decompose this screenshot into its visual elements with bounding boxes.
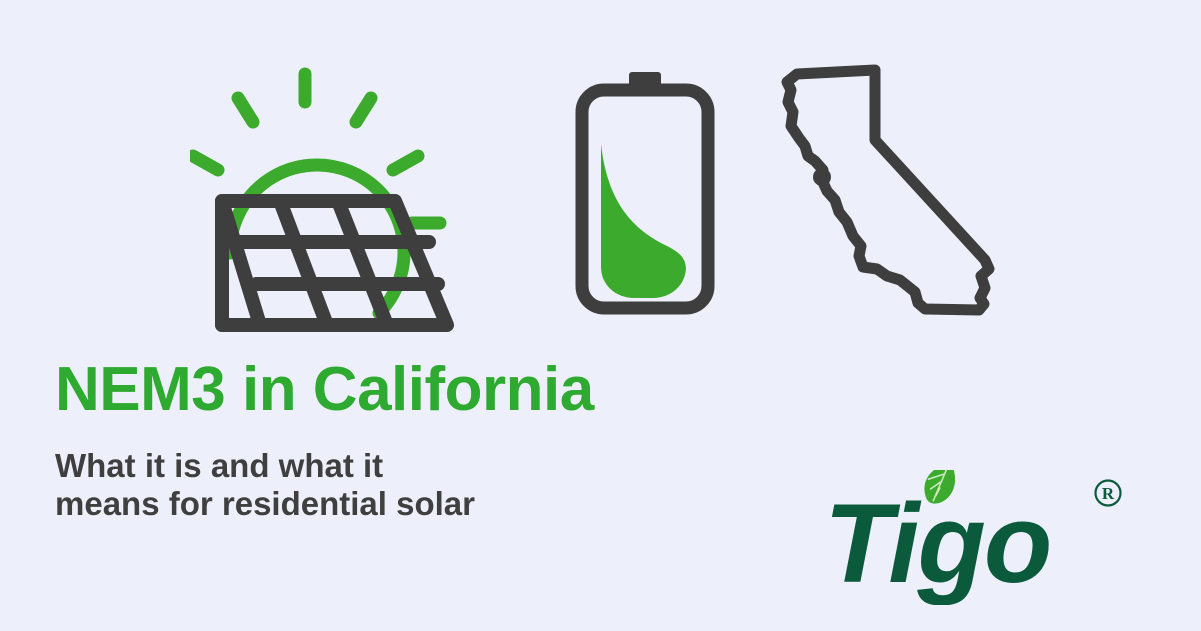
page-title: NEM3 in California: [55, 355, 755, 425]
page-subtitle: What it is and what it means for residen…: [55, 425, 525, 523]
svg-text:R: R: [1102, 484, 1115, 503]
headline-block: NEM3 in California What it is and what i…: [55, 355, 755, 523]
battery-charge-fill: [601, 144, 686, 298]
california-outline-path: [787, 70, 989, 310]
solar-panel-icon: [190, 60, 510, 340]
battery-icon: [555, 60, 735, 340]
page-subtitle-line-1: What it is and what it: [55, 447, 525, 485]
nem3-california-banner: NEM3 in California What it is and what i…: [0, 0, 1201, 631]
california-map-icon: [775, 60, 1025, 340]
page-subtitle-line-2: means for residential solar: [55, 485, 525, 523]
tigo-logo[interactable]: Tigo R: [820, 470, 1160, 605]
icon-row: [0, 60, 1201, 340]
registered-trademark-icon: R: [1096, 481, 1121, 506]
map-notch-icon: [813, 168, 831, 186]
